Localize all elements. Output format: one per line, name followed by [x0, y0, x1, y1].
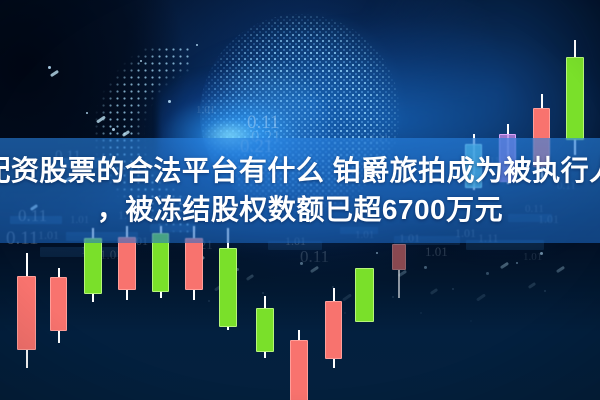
headline-text-block: 配资股票的合法平台有什么 铂爵旅拍成为被执行人 ，被冻结股权数额已超6700万元	[0, 138, 600, 243]
floating-particle	[48, 66, 51, 69]
banner-image: 0.110.110.110.110.210.211.011.011.011.01…	[0, 0, 600, 400]
headline-line-2: ，被冻结股权数额已超6700万元	[97, 191, 503, 229]
candle-body	[256, 308, 274, 352]
floating-particle	[168, 100, 171, 103]
candle-bullish-5	[355, 268, 374, 322]
candle-bearish-5	[290, 330, 308, 400]
candle-bullish-4	[256, 296, 274, 358]
candle-bearish-2	[50, 268, 67, 343]
headline-line-1: 配资股票的合法平台有什么 铂爵旅拍成为被执行人	[0, 152, 600, 190]
candle-body	[290, 340, 308, 400]
floating-particle	[196, 44, 198, 46]
candle-body	[84, 238, 102, 294]
candle-body	[355, 268, 374, 322]
floating-particle	[86, 112, 88, 114]
candle-body	[325, 301, 342, 359]
candle-body	[566, 57, 584, 140]
candle-body	[392, 244, 406, 270]
candle-body	[50, 277, 67, 331]
candle-body	[17, 276, 36, 350]
candle-body	[185, 238, 203, 290]
candle-body	[118, 237, 136, 290]
candle-bullish-3	[219, 228, 237, 330]
floating-particle	[112, 128, 115, 131]
candle-body	[219, 248, 237, 327]
candle-top-faded-1	[392, 244, 406, 298]
candle-bearish-6	[325, 288, 342, 368]
candle-bearish-1	[17, 253, 36, 368]
floating-particle	[140, 60, 142, 62]
